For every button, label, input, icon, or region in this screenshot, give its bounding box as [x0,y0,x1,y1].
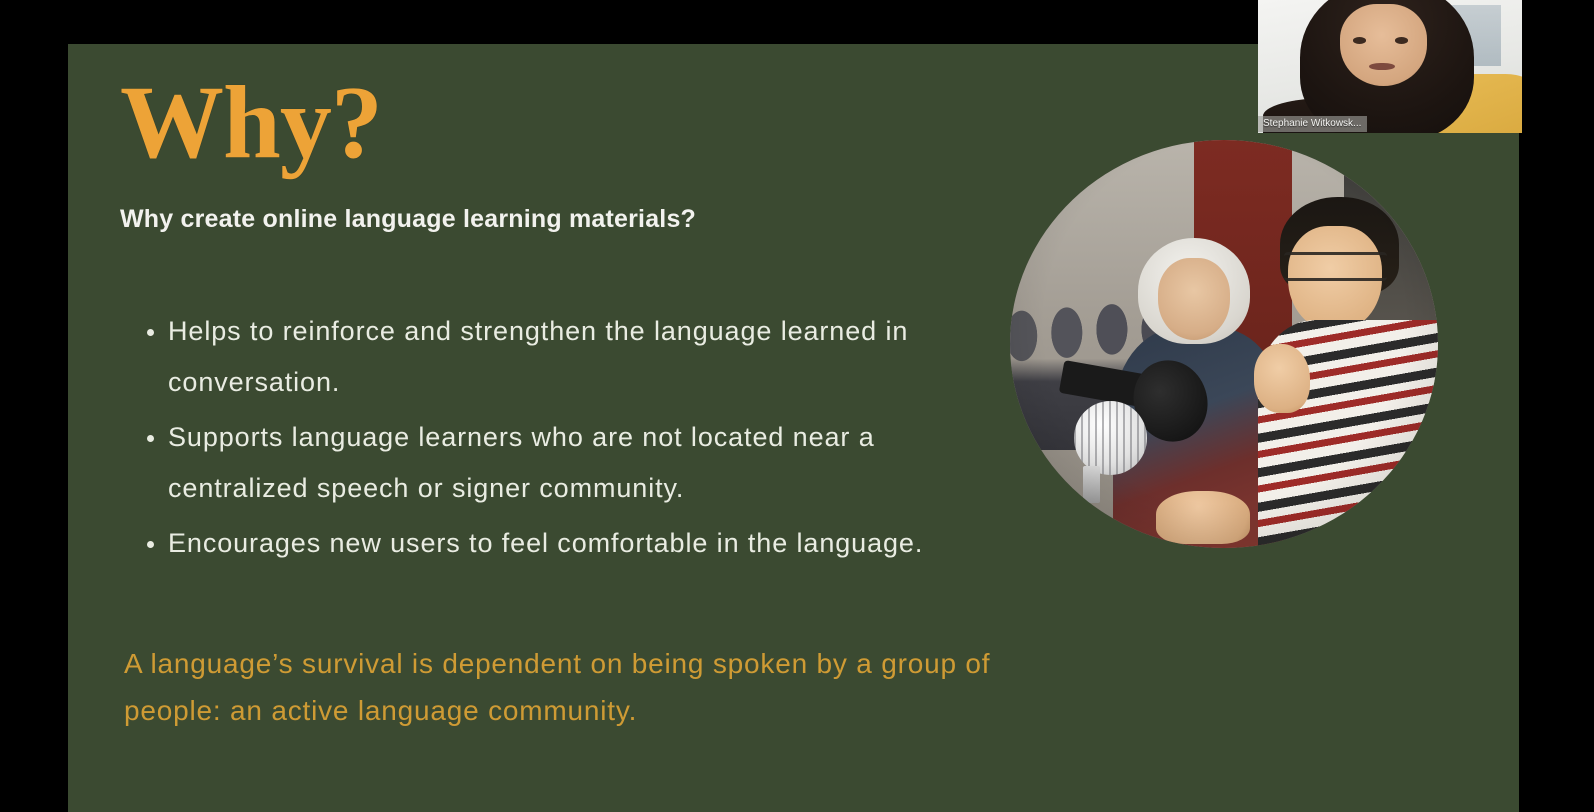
participant-video-tile[interactable]: Stephanie Witkowsk... [1258,0,1522,133]
page-title: Why? [120,71,382,175]
list-item: Supports language learners who are not l… [140,412,1020,514]
photo-vignette [1010,140,1438,548]
bullet-list: Helps to reinforce and strengthen the la… [140,306,1020,573]
webcam-eye-left [1353,37,1366,44]
screen-share-frame: Why? Why create online language learning… [0,0,1594,812]
list-item: Helps to reinforce and strengthen the la… [140,306,1020,408]
slide-subtitle: Why create online language learning mate… [120,205,696,234]
participant-name-label: Stephanie Witkowsk... [1258,116,1367,132]
webcam-face [1340,4,1427,86]
closing-statement: A language’s survival is dependent on be… [124,640,1024,734]
presentation-slide: Why? Why create online language learning… [68,44,1519,812]
slide-photo [1010,140,1438,548]
list-item: Encourages new users to feel comfortable… [140,518,1020,569]
